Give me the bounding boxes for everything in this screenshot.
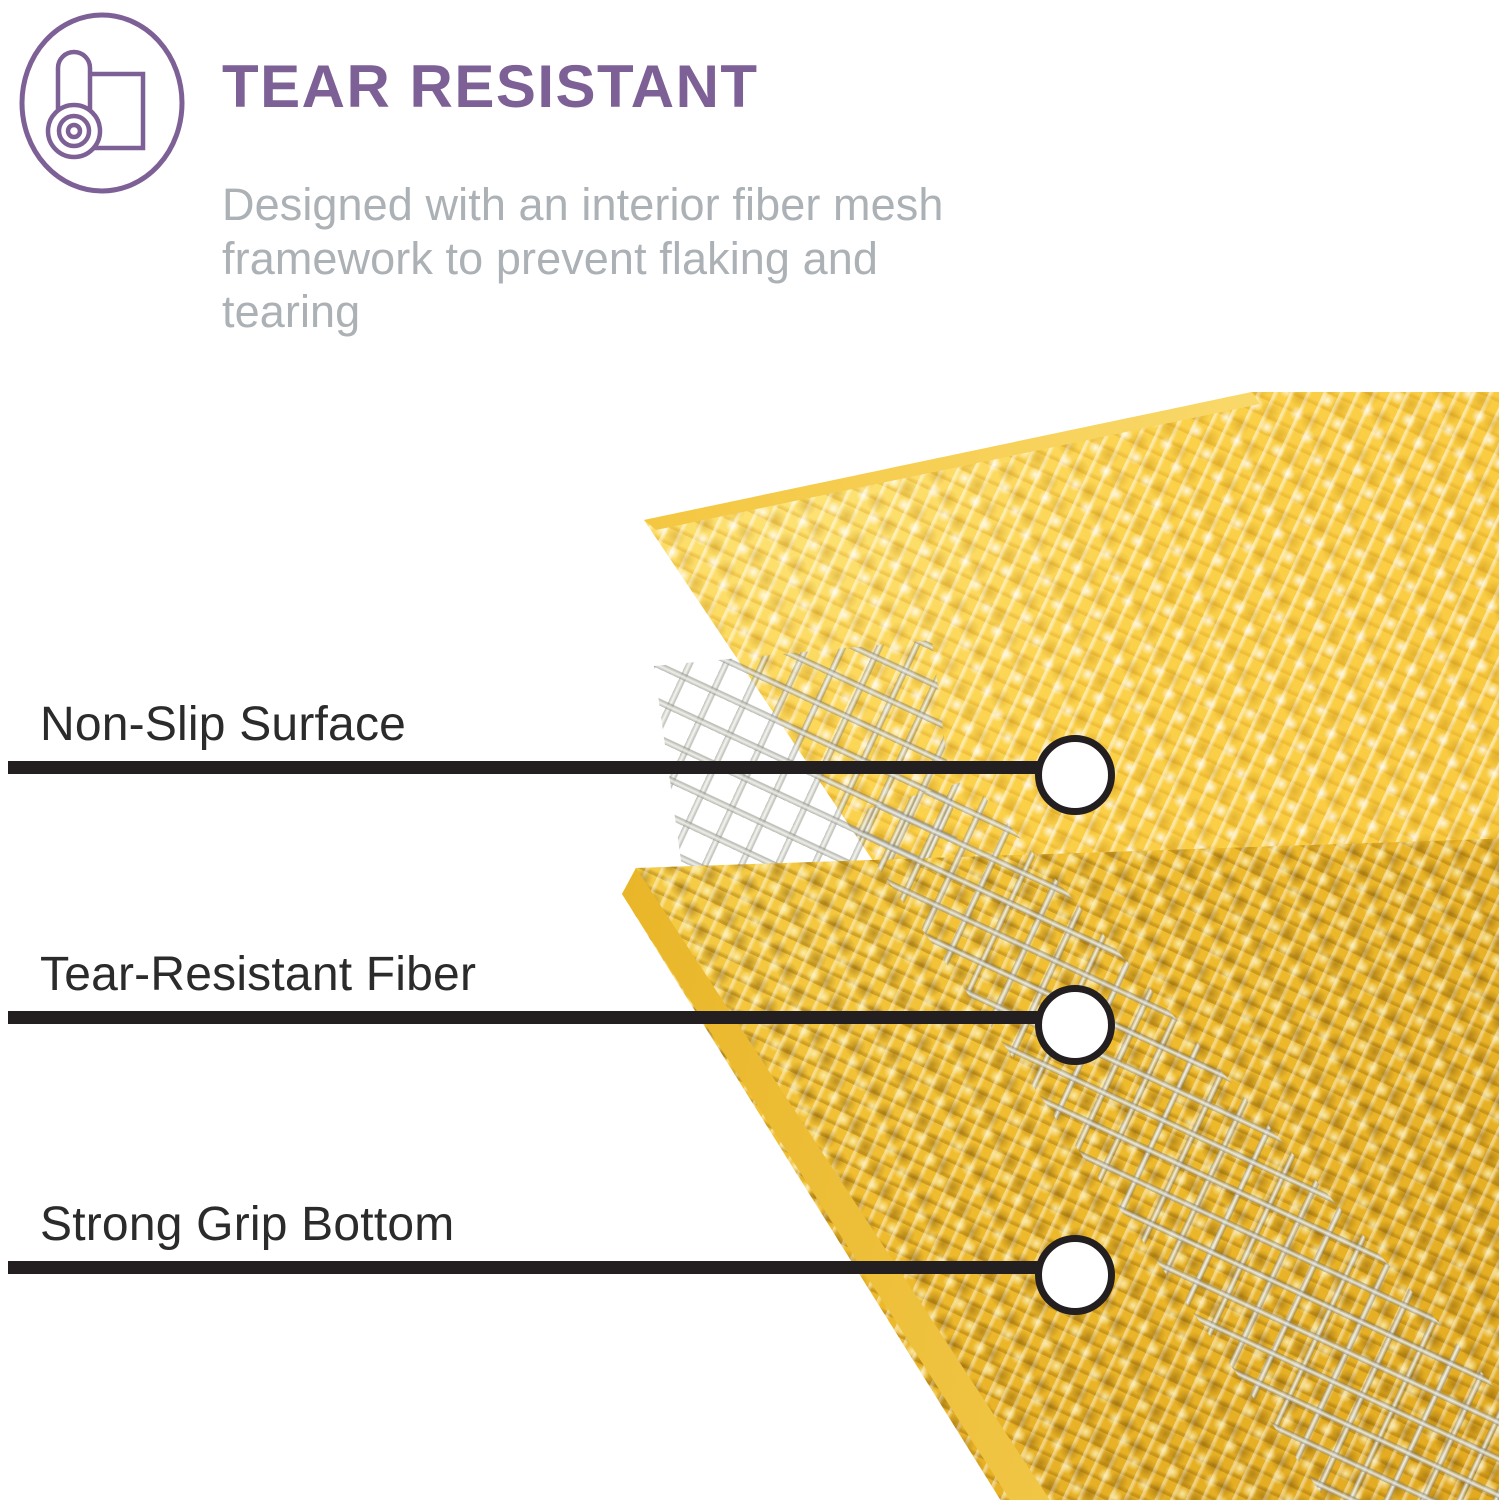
callout-marker-dot xyxy=(1035,735,1115,815)
callout-label: Strong Grip Bottom xyxy=(40,1197,454,1252)
page-subtitle: Designed with an interior fiber mesh fra… xyxy=(222,178,982,339)
callout-label: Tear-Resistant Fiber xyxy=(40,947,476,1002)
callout-leader-line xyxy=(8,1261,1053,1274)
rolled-mat-icon xyxy=(12,8,192,198)
callout-marker-dot xyxy=(1035,1235,1115,1315)
header-block: TEAR RESISTANT Designed with an interior… xyxy=(0,0,1000,350)
callout-leader-line xyxy=(8,1011,1053,1024)
callout-leader-line xyxy=(8,761,1053,774)
page-title: TEAR RESISTANT xyxy=(222,57,759,117)
infographic-canvas: TEAR RESISTANT Designed with an interior… xyxy=(0,0,1499,1500)
callout-marker-dot xyxy=(1035,985,1115,1065)
callout-label: Non-Slip Surface xyxy=(40,697,406,752)
